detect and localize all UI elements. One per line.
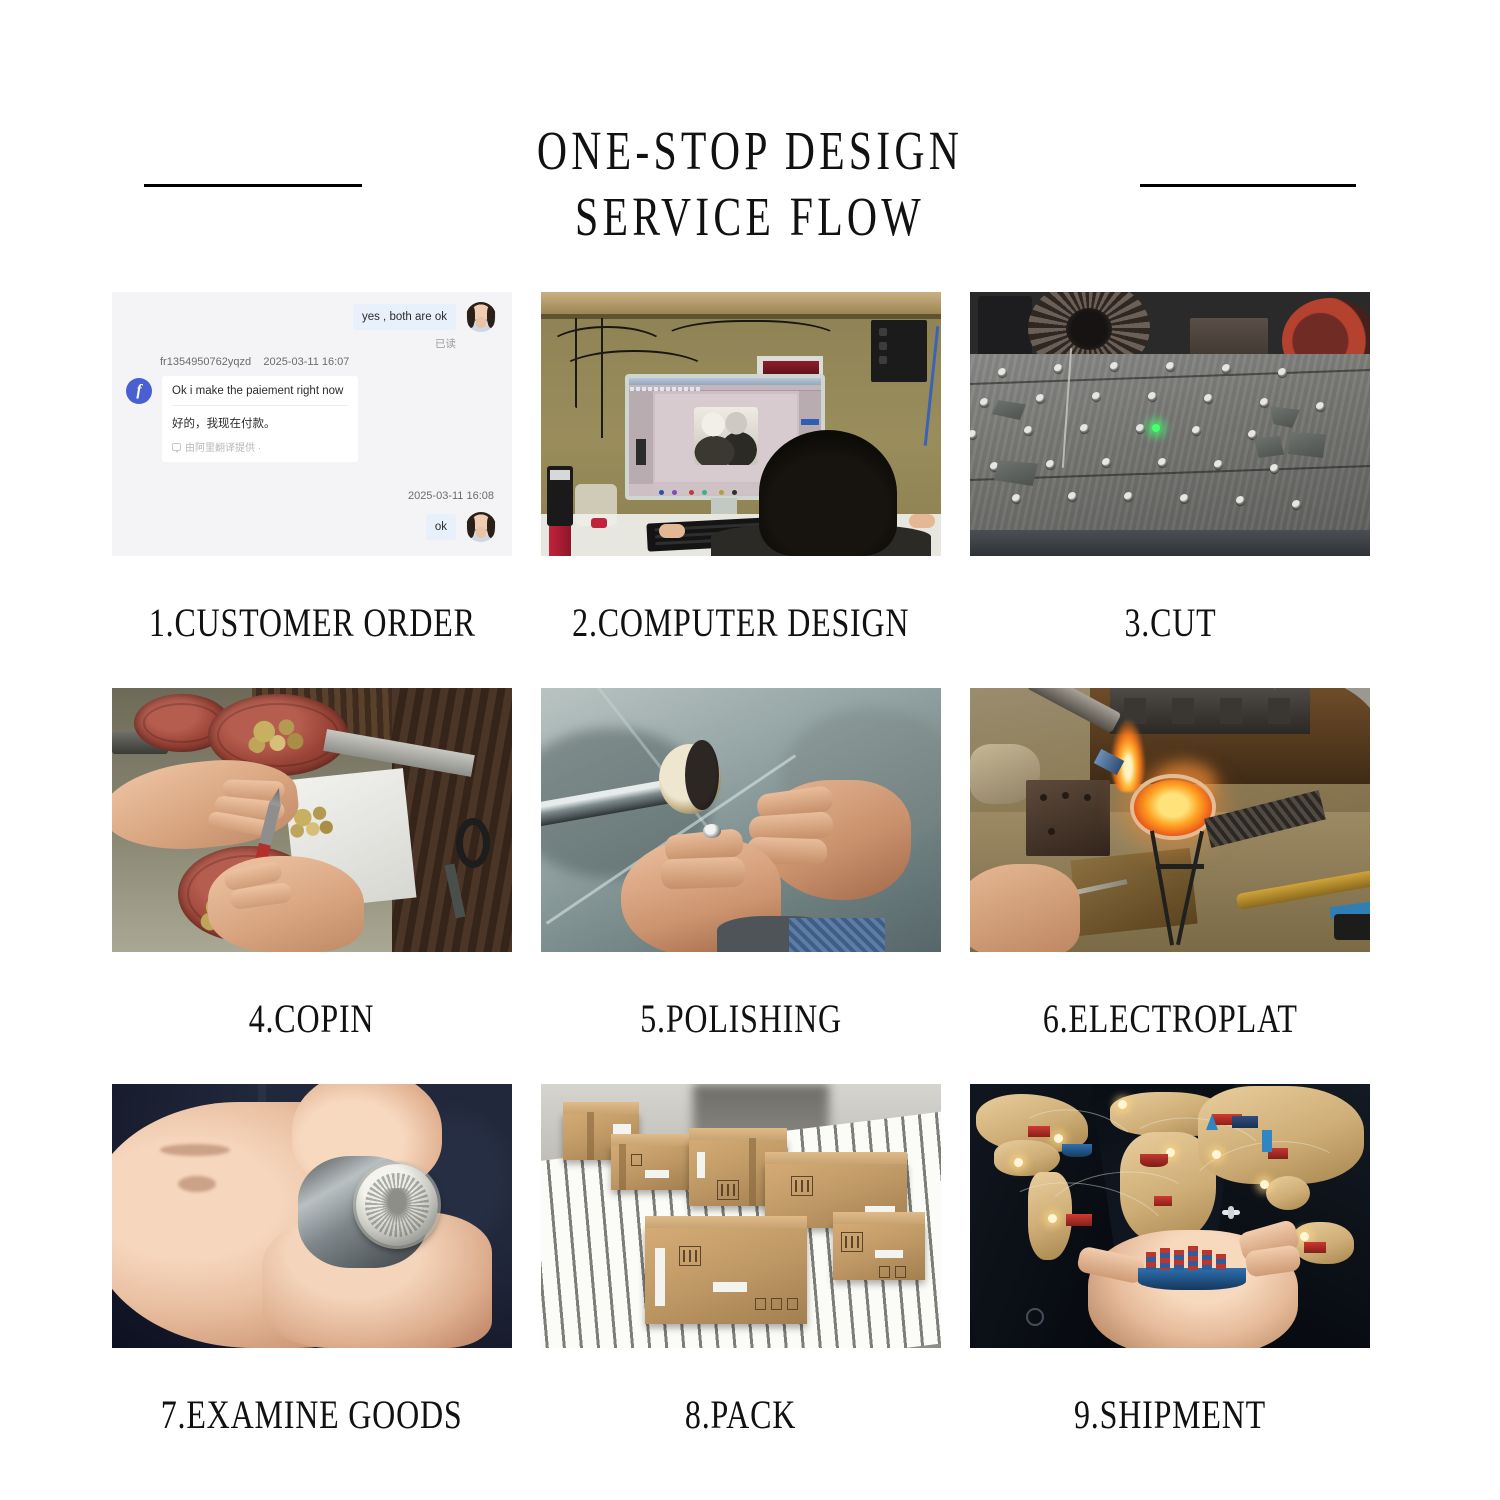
chat-outgoing-bubble-1: yes , both are ok <box>353 304 456 330</box>
soda-can <box>549 526 571 556</box>
metal-scrap <box>1270 406 1300 428</box>
step-card-8: 8.PACK <box>541 1084 941 1480</box>
chat-outgoing-timestamp: 2025-03-11 16:08 <box>408 490 494 502</box>
step-label-5: 5.POLISHING <box>640 995 842 1042</box>
molten-metal-crucible <box>1134 780 1212 836</box>
graphite-block <box>1026 780 1110 856</box>
hand-lower <box>208 856 364 952</box>
avatar <box>466 512 496 542</box>
conveyor-boxes-photo <box>541 1084 941 1348</box>
translation-credit-text: 由阿里翻译提供 · <box>185 439 261 454</box>
step-caption-7: 7.EXAMINE GOODS <box>112 1348 512 1480</box>
brass-chips <box>242 714 316 758</box>
chat-incoming-text-cn: 好的，我现在付款。 <box>162 406 358 437</box>
engraved-crest <box>365 1173 429 1237</box>
contact-avatar-badge: f <box>126 378 152 404</box>
chat-incoming-text-en: Ok i make the paiement right now <box>162 376 358 405</box>
chat-screenshot: yes , both are ok 已读 fr1354950762yqzd 20… <box>112 292 512 556</box>
avatar <box>466 302 496 332</box>
step-image-8 <box>541 1084 941 1348</box>
plate-seam <box>970 369 1370 386</box>
step-card-6: 6.ELECTROPLAT <box>970 688 1370 1084</box>
ring-workpiece <box>703 824 721 838</box>
step-label-7: 7.EXAMINE GOODS <box>161 1391 463 1438</box>
app-left-panel <box>629 391 653 484</box>
app-titlebar <box>629 378 821 385</box>
chat-incoming-timestamp: 2025-03-11 16:07 <box>263 356 349 368</box>
machine-base <box>970 530 1370 556</box>
laser-cutting-photo <box>970 292 1370 556</box>
shelf <box>541 292 941 314</box>
step-image-4 <box>112 688 512 952</box>
step-card-1: yes , both are ok 已读 fr1354950762yqzd 20… <box>112 292 512 688</box>
hand-right <box>909 514 935 528</box>
hose-nozzle <box>1334 914 1370 940</box>
hand-left <box>659 524 685 538</box>
page-title-line-2: SERVICE FLOW <box>180 184 1320 250</box>
chat-sender-id: fr1354950762yqzd <box>160 356 251 368</box>
computer-design-photo <box>541 292 941 556</box>
steel-bed-plate <box>970 354 1370 540</box>
step-label-3: 3.CUT <box>1124 599 1216 646</box>
page-title: ONE-STOP DESIGN SERVICE FLOW <box>180 118 1320 250</box>
step-caption-8: 8.PACK <box>541 1348 941 1480</box>
step-caption-6: 6.ELECTROPLAT <box>970 952 1370 1084</box>
ship-icon <box>1062 1144 1092 1157</box>
hand <box>970 864 1080 952</box>
wheel-hub <box>1066 308 1112 350</box>
skin-crease <box>178 1176 216 1192</box>
step-label-6: 6.ELECTROPLAT <box>1043 995 1298 1042</box>
step-card-3: 3.CUT <box>970 292 1370 688</box>
cable <box>601 318 603 438</box>
step-image-1: yes , both are ok 已读 fr1354950762yqzd 20… <box>112 292 512 556</box>
hand-right <box>761 780 911 900</box>
step-image-5 <box>541 688 941 952</box>
metal-scrap <box>992 400 1026 420</box>
signet-ring-photo <box>112 1084 512 1348</box>
scissors <box>448 818 502 914</box>
laser-dot <box>1152 424 1160 432</box>
chat-incoming-meta: fr1354950762yqzd 2025-03-11 16:07 <box>160 356 349 368</box>
translation-credit-row: 由阿里翻译提供 · <box>162 437 358 462</box>
step-card-4: 4.COPIN <box>112 688 512 1084</box>
page-title-line-1: ONE-STOP DESIGN <box>180 118 1320 184</box>
step-card-2: 2.COMPUTER DESIGN <box>541 292 941 688</box>
step-label-9: 9.SHIPMENT <box>1074 1391 1266 1438</box>
metal-scrap <box>1254 436 1284 458</box>
carton-box <box>645 1226 807 1324</box>
polishing-wheel-rim <box>685 740 719 810</box>
step-image-9 <box>970 1084 1370 1348</box>
step-caption-2: 2.COMPUTER DESIGN <box>541 556 941 688</box>
polishing-wheel-photo <box>541 688 941 952</box>
avatar-hair-right <box>487 306 495 328</box>
step-caption-3: 3.CUT <box>970 556 1370 688</box>
ship-icon <box>1140 1154 1168 1167</box>
machine-arm <box>978 296 1032 358</box>
person-head <box>759 430 897 556</box>
torch-melting-photo <box>970 688 1370 952</box>
metal-scrap <box>1288 432 1326 458</box>
carton-box <box>833 1222 925 1280</box>
wall-box <box>871 320 927 382</box>
avatar-hair-left <box>467 516 475 538</box>
step-card-7: 7.EXAMINE GOODS <box>112 1084 512 1480</box>
step-image-6 <box>970 688 1370 952</box>
portrait-artwork <box>694 407 758 465</box>
chat-outgoing-bubble-2: ok <box>426 514 456 540</box>
metal-scrap <box>994 460 1038 486</box>
step-caption-4: 4.COPIN <box>112 952 512 1084</box>
ship-icon <box>1066 1214 1092 1226</box>
denim-fabric <box>789 918 885 952</box>
cable <box>575 318 577 408</box>
step-card-9: 9.SHIPMENT <box>970 1084 1370 1480</box>
red-object <box>591 518 607 528</box>
copin-trays-photo <box>112 688 512 952</box>
crane-icon <box>1262 1130 1272 1152</box>
thermos <box>547 466 573 526</box>
avatar-hair-right <box>487 516 495 538</box>
skin-crease <box>160 1144 230 1156</box>
tongs-crossbar <box>1156 864 1204 869</box>
avatar-hair-left <box>467 306 475 328</box>
chat-incoming-bubble: Ok i make the paiement right now 好的，我现在付… <box>162 376 358 462</box>
cable-curve <box>661 320 841 360</box>
global-logistics-photo <box>970 1084 1370 1348</box>
one-stop-design-service-flow-page: ONE-STOP DESIGN SERVICE FLOW yes , both … <box>0 0 1500 1500</box>
translate-bubble-icon <box>172 443 181 451</box>
step-caption-1: 1.CUSTOMER ORDER <box>112 556 512 688</box>
step-image-3 <box>970 292 1370 556</box>
step-label-4: 4.COPIN <box>249 995 375 1042</box>
ring-face <box>356 1164 438 1246</box>
read-receipt: 已读 <box>435 336 456 351</box>
step-image-7 <box>112 1084 512 1348</box>
step-label-1: 1.CUSTOMER ORDER <box>149 599 476 646</box>
plane-icon <box>1222 1210 1240 1215</box>
step-label-8: 8.PACK <box>685 1391 796 1438</box>
truck-icon <box>1232 1116 1258 1128</box>
truck-icon <box>1028 1126 1050 1137</box>
suit-button <box>1026 1308 1044 1326</box>
truck-icon <box>1154 1196 1172 1206</box>
carton-box <box>611 1144 689 1190</box>
step-caption-5: 5.POLISHING <box>541 952 941 1084</box>
step-label-2: 2.COMPUTER DESIGN <box>572 599 909 646</box>
container-ship <box>1138 1246 1246 1290</box>
step-caption-9: 9.SHIPMENT <box>970 1348 1370 1480</box>
step-card-5: 5.POLISHING <box>541 688 941 1084</box>
process-steps-grid: yes , both are ok 已读 fr1354950762yqzd 20… <box>112 292 1370 1480</box>
page-header: ONE-STOP DESIGN SERVICE FLOW <box>0 118 1500 258</box>
step-image-2 <box>541 292 941 556</box>
truck-icon <box>1304 1242 1326 1253</box>
ship-hull <box>1138 1268 1246 1290</box>
